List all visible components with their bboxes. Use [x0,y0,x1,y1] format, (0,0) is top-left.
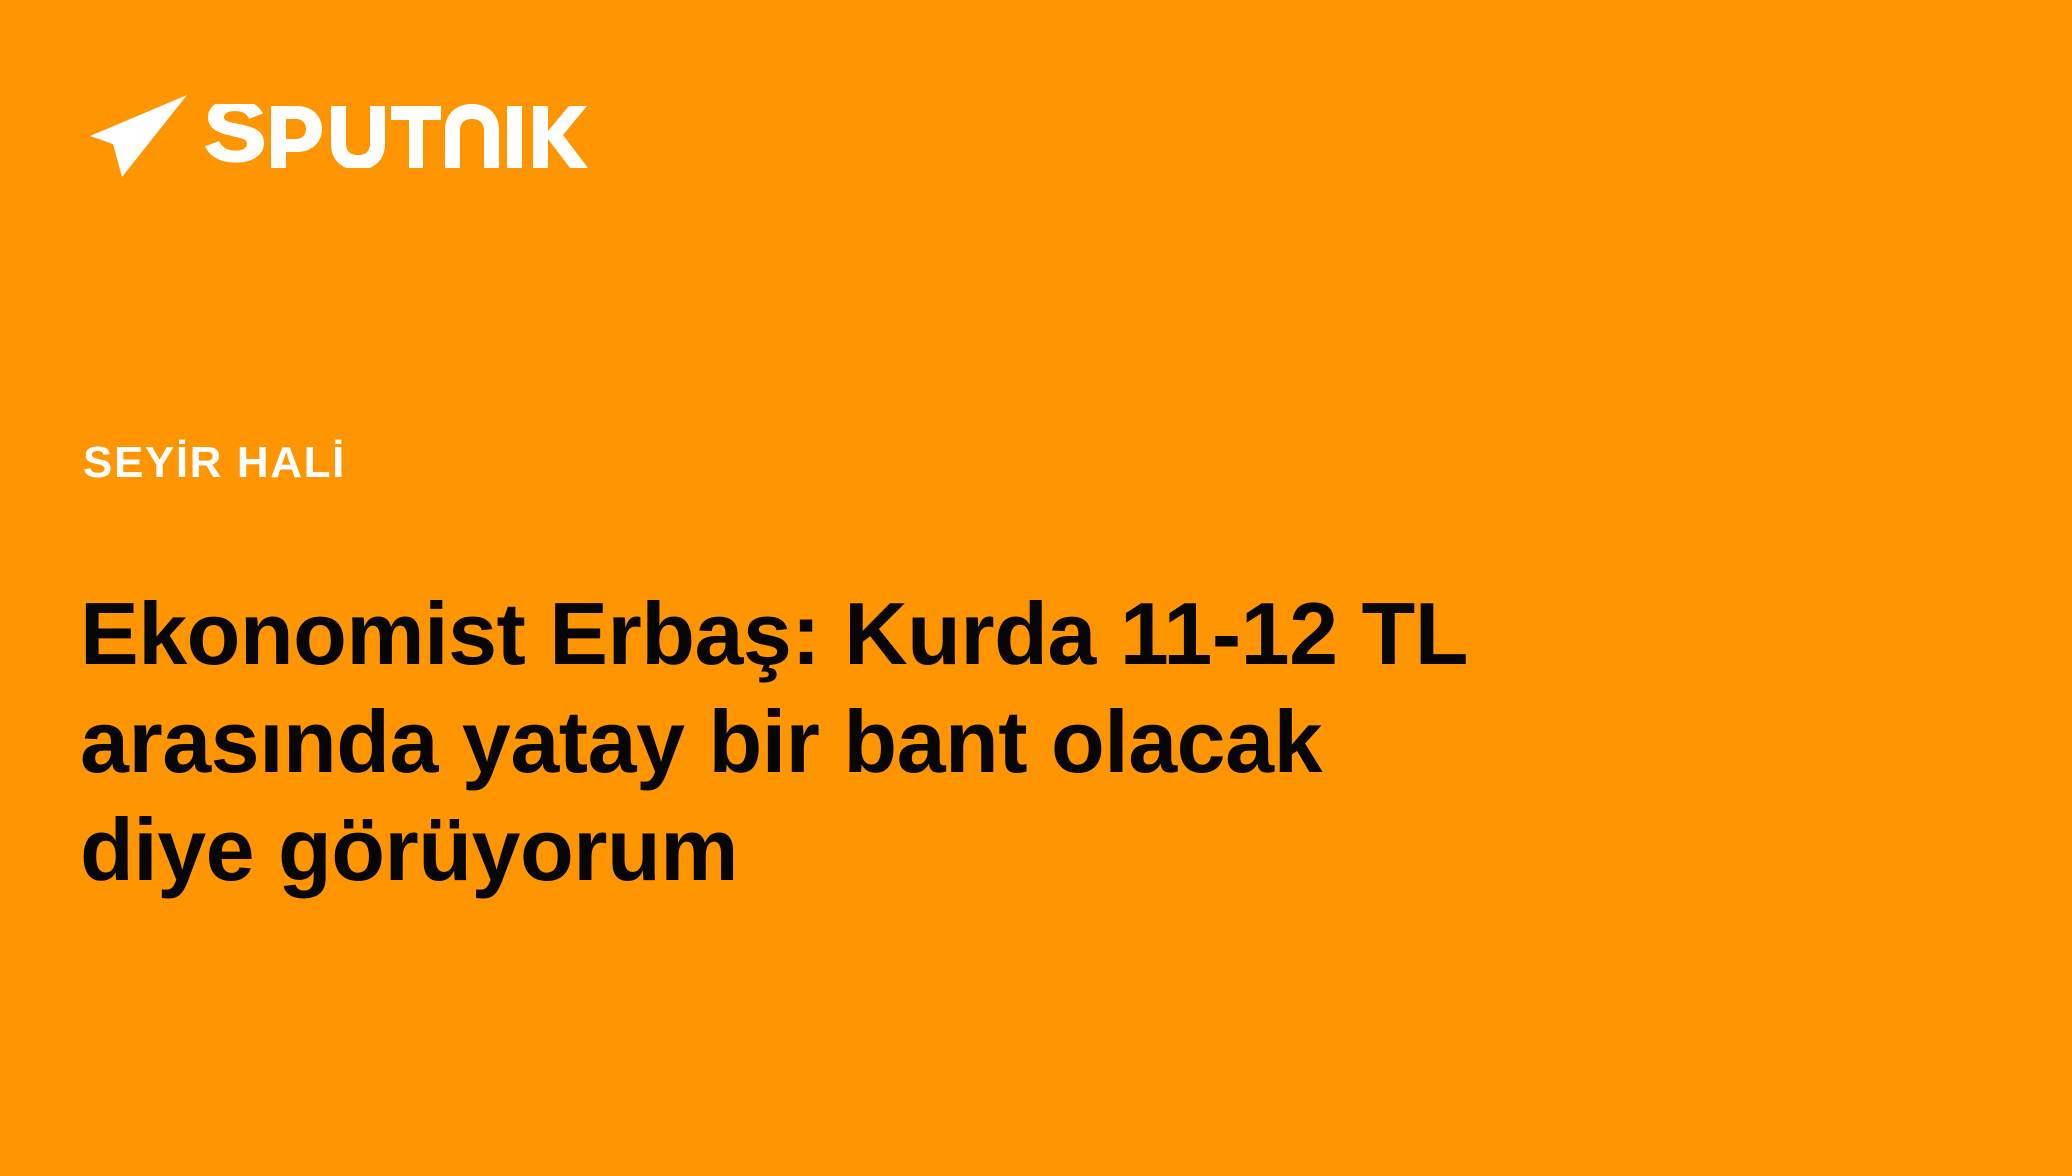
article-share-card: SEYİR HALİ Ekonomist Erbaş: Kurda 11-12 … [0,0,2072,1176]
article-headline[interactable]: Ekonomist Erbaş: Kurda 11-12 TL arasında… [80,580,1960,904]
sputnik-arrow-mark-icon [83,91,191,181]
sputnik-logo[interactable] [83,88,605,184]
headline-line-3: diye görüyorum [80,796,1960,904]
headline-line-1: Ekonomist Erbaş: Kurda 11-12 TL [80,580,1960,688]
headline-line-2: arasında yatay bir bant olacak [80,688,1960,796]
article-kicker[interactable]: SEYİR HALİ [83,440,346,486]
sputnik-wordmark-icon [205,104,605,168]
